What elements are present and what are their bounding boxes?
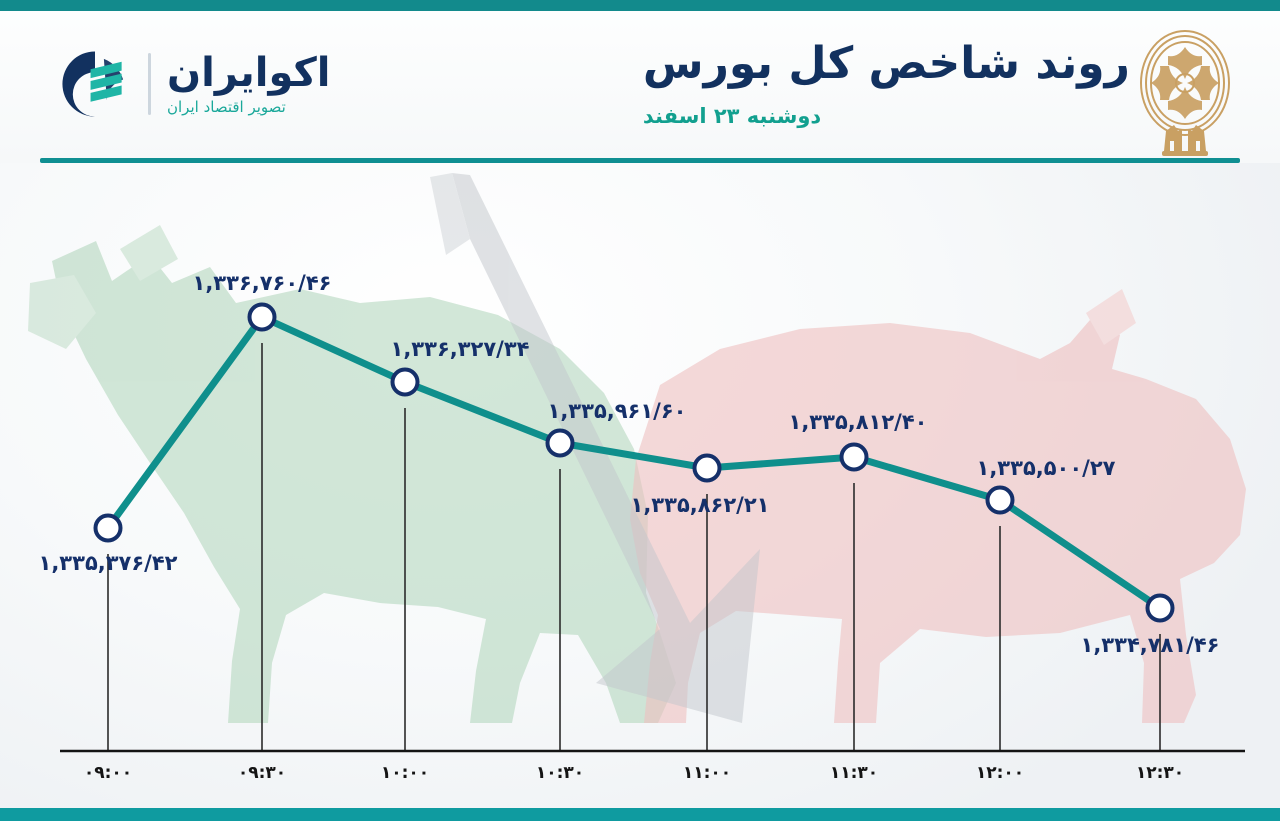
data-point-marker[interactable] <box>842 445 867 470</box>
ecoiran-logo-mark-icon <box>58 47 132 121</box>
x-tick-label: ۱۰:۰۰ <box>381 763 429 783</box>
page-title: روند شاخص کل بورس <box>643 39 1130 90</box>
point-value-label: ۱,۳۳۵,۹۶۱/۶۰ <box>548 399 687 423</box>
data-point-marker[interactable] <box>96 516 121 541</box>
title-block: روند شاخص کل بورس دوشنبه ۲۳ اسفند <box>643 39 1130 128</box>
x-tick-label: ۰۹:۰۰ <box>84 763 132 783</box>
data-point-marker[interactable] <box>988 488 1013 513</box>
point-value-label: ۱,۳۳۵,۸۶۲/۲۱ <box>631 493 770 517</box>
page-subtitle: دوشنبه ۲۳ اسفند <box>643 104 1130 128</box>
data-point-marker[interactable] <box>1148 596 1173 621</box>
data-point-marker[interactable] <box>548 431 573 456</box>
point-value-label: ۱,۳۳۶,۷۶۰/۴۶ <box>193 271 332 295</box>
brand-logo[interactable]: اکوایران تصویر اقتصاد ایران <box>58 47 331 121</box>
point-value-label: ۱,۳۳۴,۷۸۱/۴۶ <box>1081 633 1220 657</box>
point-value-label: ۱,۳۳۵,۳۷۶/۴۲ <box>39 551 178 575</box>
logo-divider <box>148 53 151 115</box>
data-point-marker[interactable] <box>695 456 720 481</box>
header: اکوایران تصویر اقتصاد ایران روند شاخص کل… <box>0 11 1280 163</box>
bottom-accent-bar <box>0 808 1280 821</box>
infographic-canvas: اکوایران تصویر اقتصاد ایران روند شاخص کل… <box>0 0 1280 821</box>
point-value-label: ۱,۳۳۵,۵۰۰/۲۷ <box>977 456 1116 480</box>
chart-area: ۱,۳۳۵,۳۷۶/۴۲۱,۳۳۶,۷۶۰/۴۶۱,۳۳۶,۳۲۷/۳۴۱,۳۳… <box>0 163 1280 808</box>
x-tick-label: ۰۹:۳۰ <box>238 763 286 783</box>
data-point-marker[interactable] <box>393 370 418 395</box>
brand-tagline: تصویر اقتصاد ایران <box>167 100 286 115</box>
data-point-marker[interactable] <box>250 305 275 330</box>
tehran-stock-exchange-emblem-icon <box>1130 25 1240 165</box>
brand-logo-text: اکوایران تصویر اقتصاد ایران <box>167 53 331 115</box>
point-value-label: ۱,۳۳۶,۳۲۷/۳۴ <box>391 337 530 361</box>
x-tick-label: ۱۰:۳۰ <box>536 763 584 783</box>
x-tick-label: ۱۱:۰۰ <box>683 763 731 783</box>
brand-name: اکوایران <box>167 53 331 93</box>
line-chart-plot <box>0 163 1280 808</box>
x-tick-label: ۱۱:۳۰ <box>830 763 878 783</box>
x-tick-label: ۱۲:۳۰ <box>1136 763 1184 783</box>
x-tick-label: ۱۲:۰۰ <box>976 763 1024 783</box>
top-accent-bar <box>0 0 1280 11</box>
point-value-label: ۱,۳۳۵,۸۱۲/۴۰ <box>789 410 928 434</box>
